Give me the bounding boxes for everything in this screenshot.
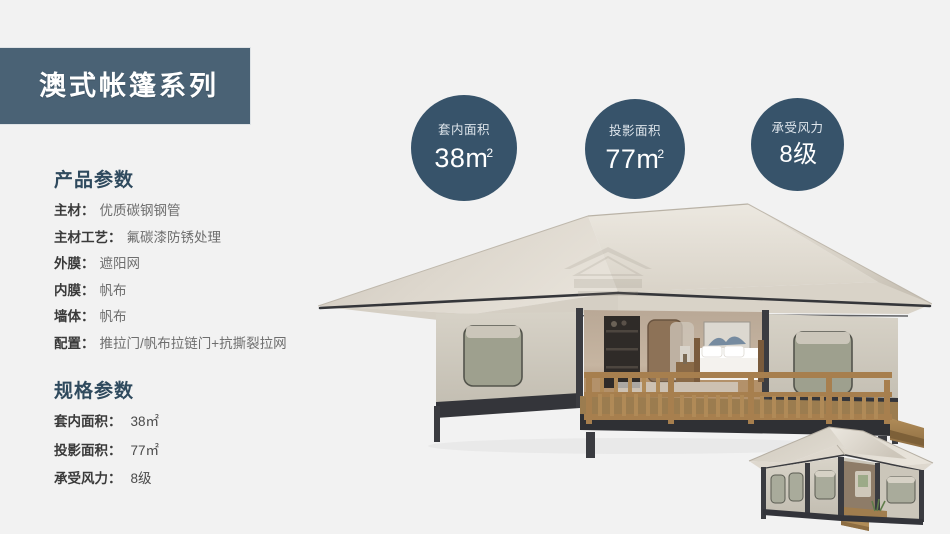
param-value: 帆布 [100,310,127,324]
param-value: 推拉门/帆布拉链门+抗撕裂拉网 [100,337,287,351]
spec-value: 8级 [131,472,152,486]
thumbnail-tent-image [737,415,944,534]
param-value: 氟碳漆防锈处理 [127,231,222,245]
stat-number: 38m [434,143,488,173]
param-value: 帆布 [100,284,127,298]
spec-value: 77㎡ [131,444,160,458]
param-value: 优质碳钢钢管 [100,204,181,218]
stat-label: 承受风力 [771,122,823,135]
stat-value: 77m2 [605,146,664,173]
slide-root: 澳式帐篷系列 产品参数 主材： 优质碳钢钢管 主材工艺： 氟碳漆防锈处理 外膜：… [0,0,950,534]
title-banner: 澳式帐篷系列 [0,47,251,125]
param-label: 主材： [54,204,95,218]
stat-unit-exponent: 2 [486,146,493,160]
product-params-heading: 产品参数 [54,165,364,192]
param-label: 墙体： [54,310,95,324]
stat-number: 8级 [779,141,817,168]
param-value: 遮阳网 [100,257,141,271]
stat-label: 套内面积 [438,124,490,137]
param-label: 外膜： [54,257,95,271]
param-label: 内膜： [54,284,95,298]
stat-number: 77m [605,144,659,174]
stat-circle-wind-resistance: 承受风力 8级 [751,98,844,191]
page-title: 澳式帐篷系列 [31,73,219,100]
stat-label: 投影面积 [609,125,661,138]
param-label: 配置： [54,337,95,351]
stat-circle-interior-area: 套内面积 38m2 [411,95,517,201]
param-label: 主材工艺： [54,231,122,245]
stat-circle-projected-area: 投影面积 77m2 [585,99,685,199]
list-item: 承受风力： 8级 [54,472,364,486]
spec-label: 套内面积： [54,415,122,429]
stat-unit-exponent: 2 [657,147,664,161]
spec-label: 投影面积： [54,444,122,458]
stat-value: 38m2 [434,145,493,172]
spec-label: 承受风力： [54,472,122,486]
stat-value: 8级 [779,143,815,167]
spec-value: 38㎡ [131,415,160,429]
